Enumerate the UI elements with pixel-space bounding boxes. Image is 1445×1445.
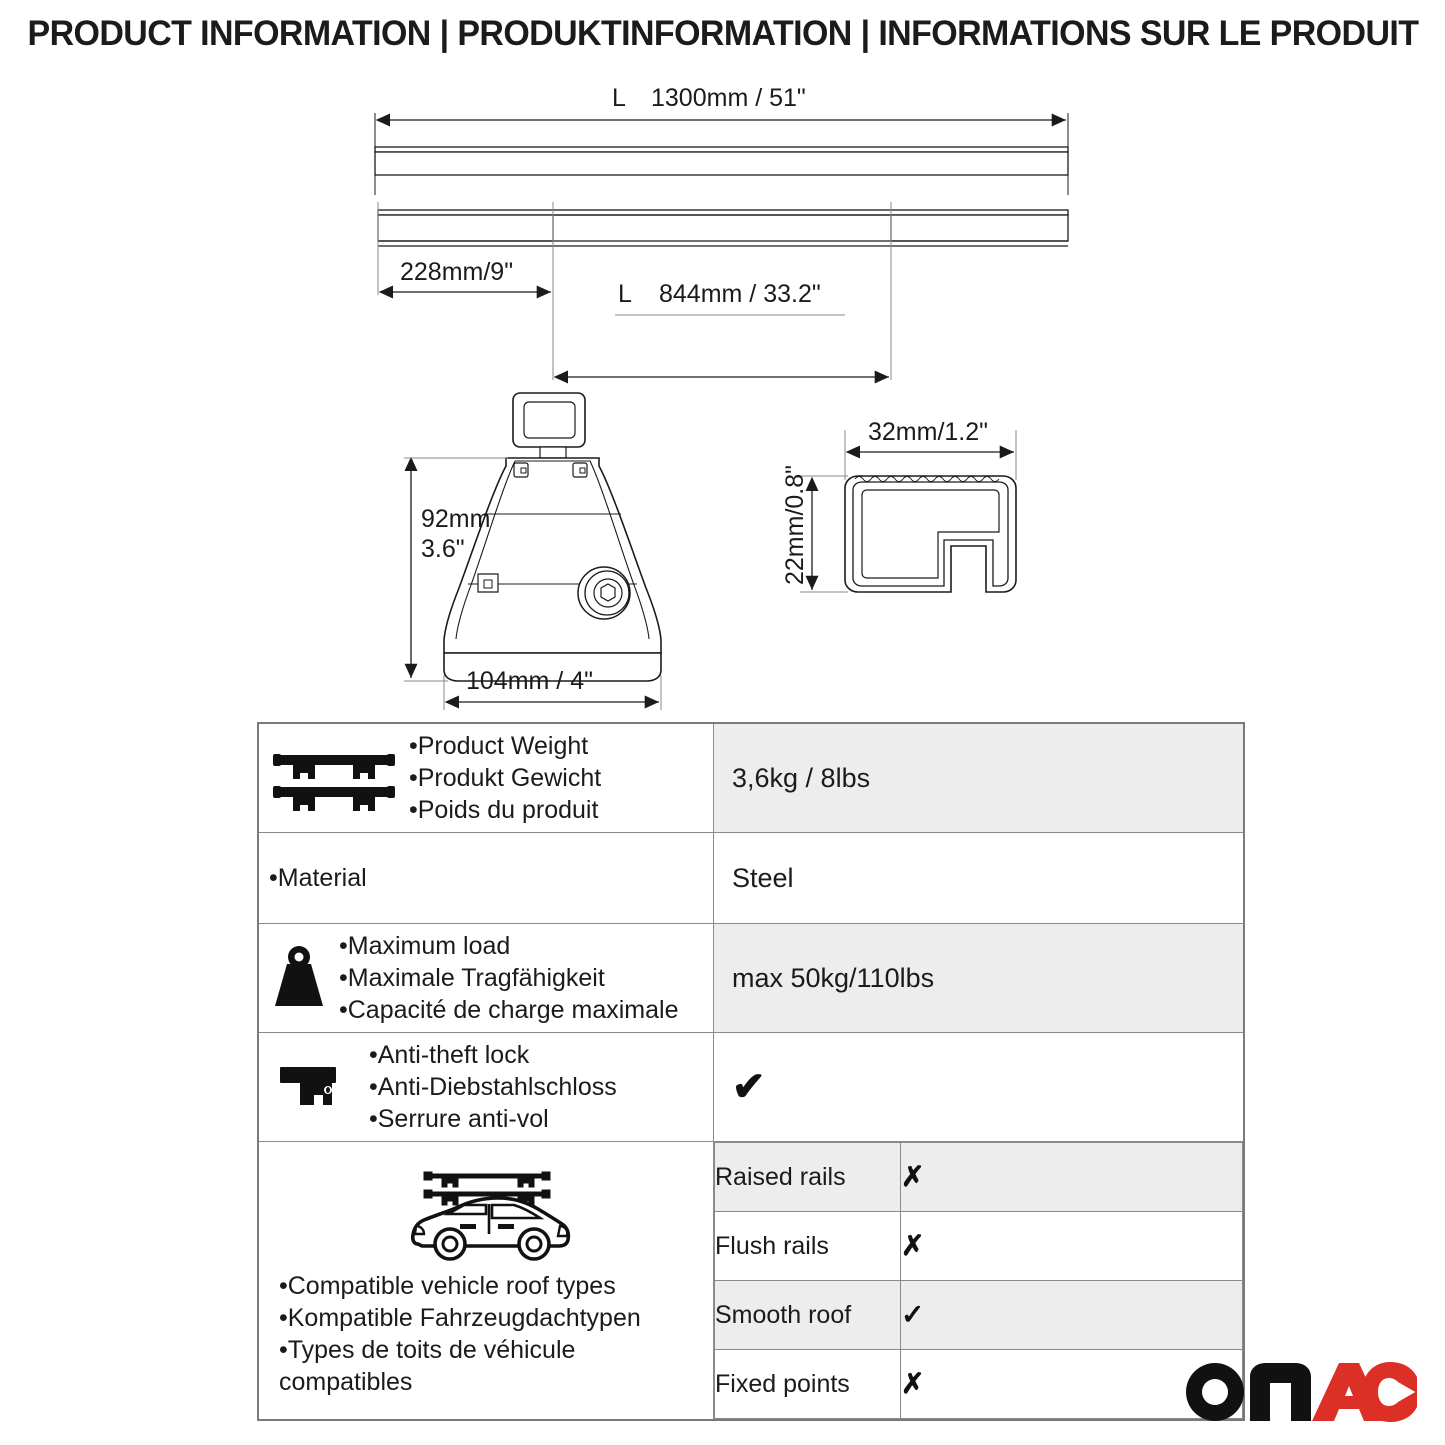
span-length-value: 844mm / 33.2" — [659, 280, 821, 308]
crossbar-top-view — [375, 147, 1068, 175]
foot-detail-drawing — [444, 393, 661, 681]
roof-type-name: Raised rails — [715, 1143, 901, 1212]
product-weight-value: 3,6kg / 8lbs — [732, 763, 870, 793]
maximum-load-value: max 50kg/110lbs — [732, 963, 934, 993]
profile-width-value: 32mm/1.2" — [868, 418, 988, 446]
row-value-cell: ✔ — [714, 1033, 1245, 1142]
roof-type-value: ✗ — [901, 1143, 1243, 1212]
page-title: PRODUCT INFORMATION | PRODUKTINFORMATION… — [0, 14, 1445, 54]
foot-offset-value: 228mm/9" — [400, 258, 513, 286]
label-line-de: •Maximale Tragfähigkeit — [339, 962, 678, 994]
anti-theft-lock-checkmark: ✔ — [732, 1065, 766, 1109]
roof-types-table: Raised rails ✗ Flush rails ✗ — [714, 1142, 1243, 1419]
product-information-page: PRODUCT INFORMATION | PRODUKTINFORMATION… — [0, 0, 1445, 1445]
span-length-prefix: L — [618, 280, 632, 308]
roof-type-mark: ✗ — [901, 1161, 924, 1192]
label-line-fr: •Types de toits de véhicule compatibles — [279, 1334, 697, 1398]
label-line-en: •Maximum load — [339, 930, 678, 962]
label-line-de: •Kompatible Fahrzeugdachtypen — [279, 1302, 697, 1334]
row-label-cell: •Maximum load •Maximale Tragfähigkeit •C… — [258, 924, 714, 1033]
label-line-en: •Material — [269, 862, 367, 894]
foot-height-line1: 92mm — [421, 505, 490, 533]
roof-type-row-fixed-points: Fixed points ✗ — [715, 1350, 1243, 1419]
row-value-cell: Steel — [714, 833, 1245, 924]
roof-type-row-raised-rails: Raised rails ✗ — [715, 1143, 1243, 1212]
profile-cross-section — [840, 476, 1019, 597]
roof-type-mark: ✓ — [901, 1299, 924, 1330]
roof-type-name: Flush rails — [715, 1212, 901, 1281]
roof-type-mark: ✗ — [901, 1230, 924, 1261]
row-label-text: •Material — [269, 862, 367, 894]
technical-drawing: L 1300mm / 51" 2 — [0, 80, 1445, 710]
logo-letter-m — [1250, 1363, 1311, 1421]
roof-types-cell: Raised rails ✗ Flush rails ✗ — [714, 1142, 1245, 1421]
lock-icon — [269, 1059, 359, 1115]
label-line-en: •Compatible vehicle roof types — [279, 1270, 697, 1302]
roof-type-value: ✗ — [901, 1212, 1243, 1281]
table-row-maximum-load: •Maximum load •Maximale Tragfähigkeit •C… — [258, 924, 1244, 1033]
compatibility-label-text: •Compatible vehicle roof types •Kompatib… — [279, 1270, 697, 1398]
label-line-fr: •Serrure anti-vol — [369, 1103, 617, 1135]
crossbars-icon — [269, 743, 399, 813]
roof-type-row-smooth-roof: Smooth roof ✓ — [715, 1281, 1243, 1350]
specification-table: •Product Weight •Produkt Gewicht •Poids … — [257, 722, 1245, 1421]
row-label-text: •Maximum load •Maximale Tragfähigkeit •C… — [339, 930, 678, 1026]
crossbar-plan-view — [378, 210, 1068, 246]
table-row-material: •Material Steel — [258, 833, 1244, 924]
table-row-compatible-roof-types: •Compatible vehicle roof types •Kompatib… — [258, 1142, 1244, 1421]
row-label-cell: •Anti-theft lock •Anti-Diebstahlschloss … — [258, 1033, 714, 1142]
label-line-fr: •Capacité de charge maximale — [339, 994, 678, 1026]
row-label-text: •Product Weight •Produkt Gewicht •Poids … — [409, 730, 601, 826]
page-title-text: PRODUCT INFORMATION | PRODUKTINFORMATION… — [27, 14, 1418, 54]
omac-logo — [1184, 1361, 1419, 1423]
overall-length-prefix: L — [612, 84, 626, 112]
table-row-anti-theft-lock: •Anti-theft lock •Anti-Diebstahlschloss … — [258, 1033, 1244, 1142]
roof-type-name: Fixed points — [715, 1350, 901, 1419]
label-line-en: •Product Weight — [409, 730, 601, 762]
row-value-cell: max 50kg/110lbs — [714, 924, 1245, 1033]
label-line-fr: •Poids du produit — [409, 794, 601, 826]
table-row-product-weight: •Product Weight •Produkt Gewicht •Poids … — [258, 723, 1244, 833]
row-value-cell: 3,6kg / 8lbs — [714, 723, 1245, 833]
weight-icon — [269, 944, 329, 1012]
label-line-de: •Produkt Gewicht — [409, 762, 601, 794]
foot-width-value: 104mm / 4" — [466, 667, 593, 695]
logo-letter-c — [1362, 1362, 1417, 1422]
foot-height-line2: 3.6" — [421, 535, 465, 563]
overall-length-value: 1300mm / 51" — [651, 84, 806, 112]
label-line-de: •Anti-Diebstahlschloss — [369, 1071, 617, 1103]
compatibility-label-cell: •Compatible vehicle roof types •Kompatib… — [258, 1142, 714, 1421]
row-label-cell: •Material — [258, 833, 714, 924]
car-with-rack-icon — [402, 1164, 574, 1264]
roof-type-mark: ✗ — [901, 1368, 924, 1399]
roof-type-name: Smooth roof — [715, 1281, 901, 1350]
profile-height-value: 22mm/0.8" — [781, 465, 809, 585]
row-label-text: •Anti-theft lock •Anti-Diebstahlschloss … — [369, 1039, 617, 1135]
roof-type-row-flush-rails: Flush rails ✗ — [715, 1212, 1243, 1281]
label-line-en: •Anti-theft lock — [369, 1039, 617, 1071]
material-value: Steel — [732, 863, 794, 893]
row-label-cell: •Product Weight •Produkt Gewicht •Poids … — [258, 723, 714, 833]
roof-type-value: ✓ — [901, 1281, 1243, 1350]
